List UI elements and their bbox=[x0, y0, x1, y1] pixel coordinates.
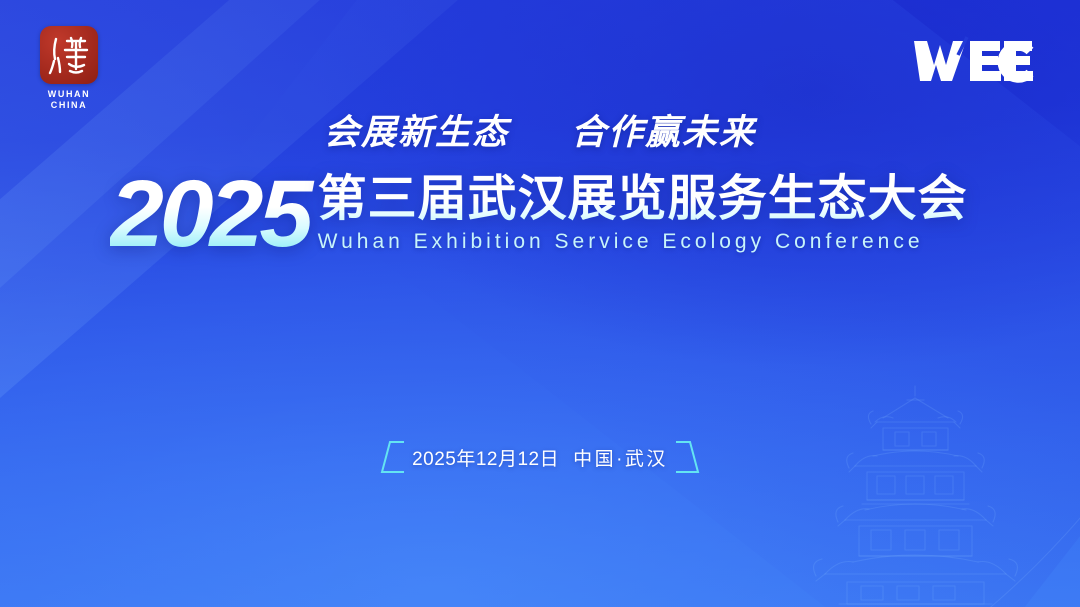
yellow-crane-tower-watermark bbox=[803, 378, 1028, 607]
bracket-left-icon bbox=[380, 440, 404, 474]
title-text-stack: 第三届武汉展览服务生态大会 Wuhan Exhibition Service E… bbox=[318, 171, 968, 258]
background-band-upper-right bbox=[240, 0, 1080, 607]
background-band-diagonal-b bbox=[0, 0, 855, 573]
event-location: 中国·武汉 bbox=[573, 449, 668, 470]
event-info-bar: 2025年12月12日中国·武汉 bbox=[0, 440, 1080, 474]
wuhan-china-logo: WUHAN CHINA bbox=[32, 26, 106, 111]
title-block: 2025 第三届武汉展览服务生态大会 Wuhan Exhibition Serv… bbox=[0, 170, 1080, 258]
seal-text-wuhan: WUHAN bbox=[32, 89, 106, 100]
conference-poster: WUHAN CHINA 会展新生态合作赢未来 2025 第三届武汉展 bbox=[0, 0, 1080, 607]
slogan-left: 会展新生态 bbox=[324, 113, 509, 152]
event-date: 2025年12月12日 bbox=[412, 449, 559, 470]
background-glow-lower bbox=[0, 212, 1080, 607]
background-arc-sweep bbox=[0, 0, 1080, 607]
bracket-right-icon bbox=[676, 440, 700, 474]
weec-logo bbox=[912, 33, 1036, 87]
conference-title-chinese: 第三届武汉展览服务生态大会 bbox=[318, 171, 968, 227]
slogan: 会展新生态合作赢未来 bbox=[0, 104, 1080, 155]
background-arc-edge bbox=[0, 0, 1080, 607]
event-date-location: 2025年12月12日中国·武汉 bbox=[404, 444, 676, 471]
conference-year: 2025 bbox=[110, 170, 319, 258]
wuhan-seal-icon bbox=[40, 26, 98, 84]
conference-title-english: Wuhan Exhibition Service Ecology Confere… bbox=[318, 229, 968, 254]
slogan-right: 合作赢未来 bbox=[571, 113, 756, 152]
